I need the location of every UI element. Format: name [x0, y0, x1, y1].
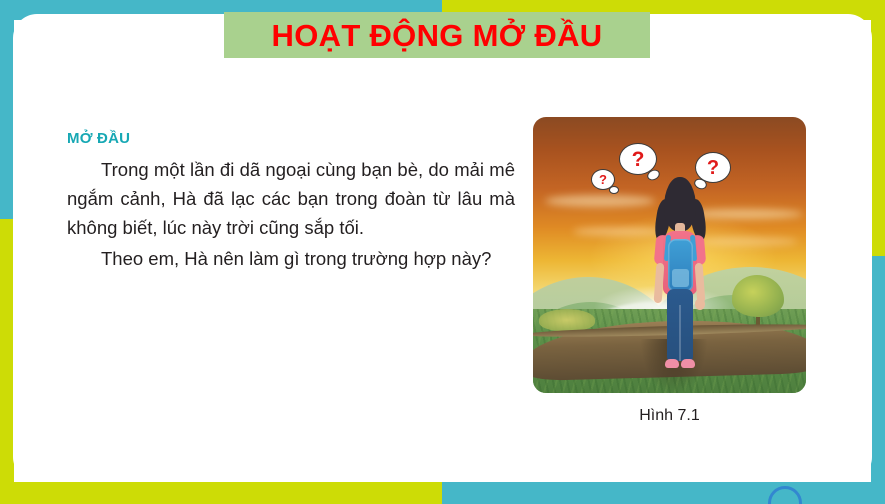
figure-illustration: ? ? ?	[533, 117, 806, 393]
slide-root: HOẠT ĐỘNG MỞ ĐẦU MỞ ĐẦU Trong một lần đi…	[0, 0, 885, 504]
arm-right	[695, 263, 706, 303]
border-bottom-left	[0, 482, 442, 504]
section-heading: MỞ ĐẦU	[67, 130, 515, 147]
border-right-top	[871, 0, 885, 256]
slide-content: MỞ ĐẦU Trong một lần đi dã ngoại cùng bạ…	[13, 14, 872, 481]
text-column: MỞ ĐẦU Trong một lần đi dã ngoại cùng bạ…	[67, 130, 515, 275]
girl-figure	[650, 177, 710, 375]
bush-left	[539, 309, 595, 331]
hand-right	[695, 299, 705, 310]
paragraph-question: Theo em, Hà nên làm gì trong trường hợp …	[67, 245, 515, 274]
paragraph-scenario: Trong một lần đi dã ngoại cùng bạn bè, d…	[67, 156, 515, 243]
slide-title-banner: HOẠT ĐỘNG MỞ ĐẦU	[224, 12, 650, 58]
question-bubble-large: ?	[619, 143, 657, 175]
arm-left	[654, 263, 665, 303]
border-left-top	[0, 0, 14, 219]
figure-caption: Hình 7.1	[533, 407, 806, 425]
border-bottom-right	[442, 482, 885, 504]
figure-block: ? ? ? Hình 7.1	[533, 117, 806, 425]
pants-seam	[679, 305, 681, 361]
question-bubble-small: ?	[591, 169, 615, 190]
page-title: HOẠT ĐỘNG MỞ ĐẦU	[272, 20, 603, 51]
border-left-bottom	[0, 219, 14, 504]
shoe-right	[681, 359, 695, 368]
backpack-pocket	[672, 269, 689, 287]
cloud-wisp-icon	[545, 195, 655, 207]
cloud-wisp-icon	[698, 237, 798, 246]
shoe-left	[665, 359, 679, 368]
border-right-bottom	[871, 256, 885, 504]
question-bubble-right: ?	[695, 152, 731, 183]
